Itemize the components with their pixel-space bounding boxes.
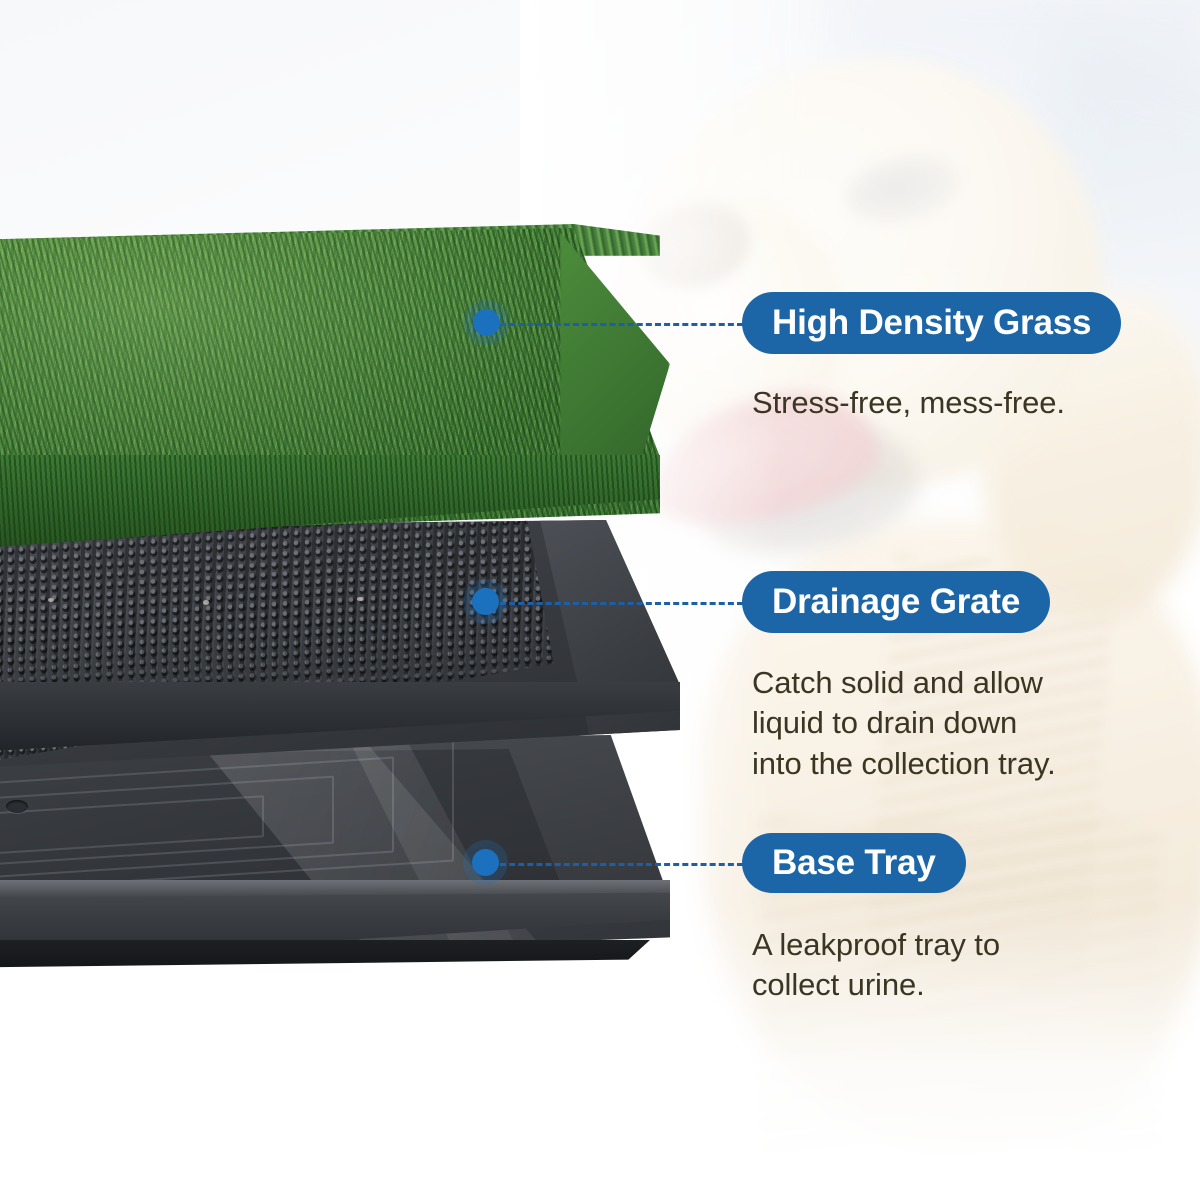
tray-drain-hole <box>6 800 28 813</box>
grate-speck <box>203 600 209 605</box>
marker-dot-drainage-grate[interactable] <box>472 588 499 615</box>
marker-dot-high-density-grass[interactable] <box>473 309 500 336</box>
callout-base-tray: Base Tray <box>742 833 966 893</box>
callout-description-drainage-grate: Catch solid and allow liquid to drain do… <box>752 663 1172 784</box>
callout-label-base-tray[interactable]: Base Tray <box>742 833 966 893</box>
tray-bottom-edge <box>0 940 650 968</box>
callout-high-density-grass: High Density Grass <box>742 292 1121 354</box>
marker-dot-base-tray[interactable] <box>472 849 499 876</box>
connector-line-2 <box>500 602 743 605</box>
callout-drainage-grate: Drainage Grate <box>742 571 1050 633</box>
connector-line-1 <box>500 323 743 326</box>
callout-description-base-tray: A leakproof tray to collect urine. <box>752 925 1172 1006</box>
callout-label-drainage-grate[interactable]: Drainage Grate <box>742 571 1050 633</box>
infographic-canvas: High Density Grass Stress-free, mess-fre… <box>0 0 1200 1200</box>
product-exploded-view <box>0 0 700 1010</box>
grate-speck <box>48 598 54 602</box>
callout-label-high-density-grass[interactable]: High Density Grass <box>742 292 1121 354</box>
connector-line-3 <box>500 863 743 866</box>
grate-speck <box>357 597 363 601</box>
callout-description-high-density-grass: Stress-free, mess-free. <box>752 383 1182 423</box>
